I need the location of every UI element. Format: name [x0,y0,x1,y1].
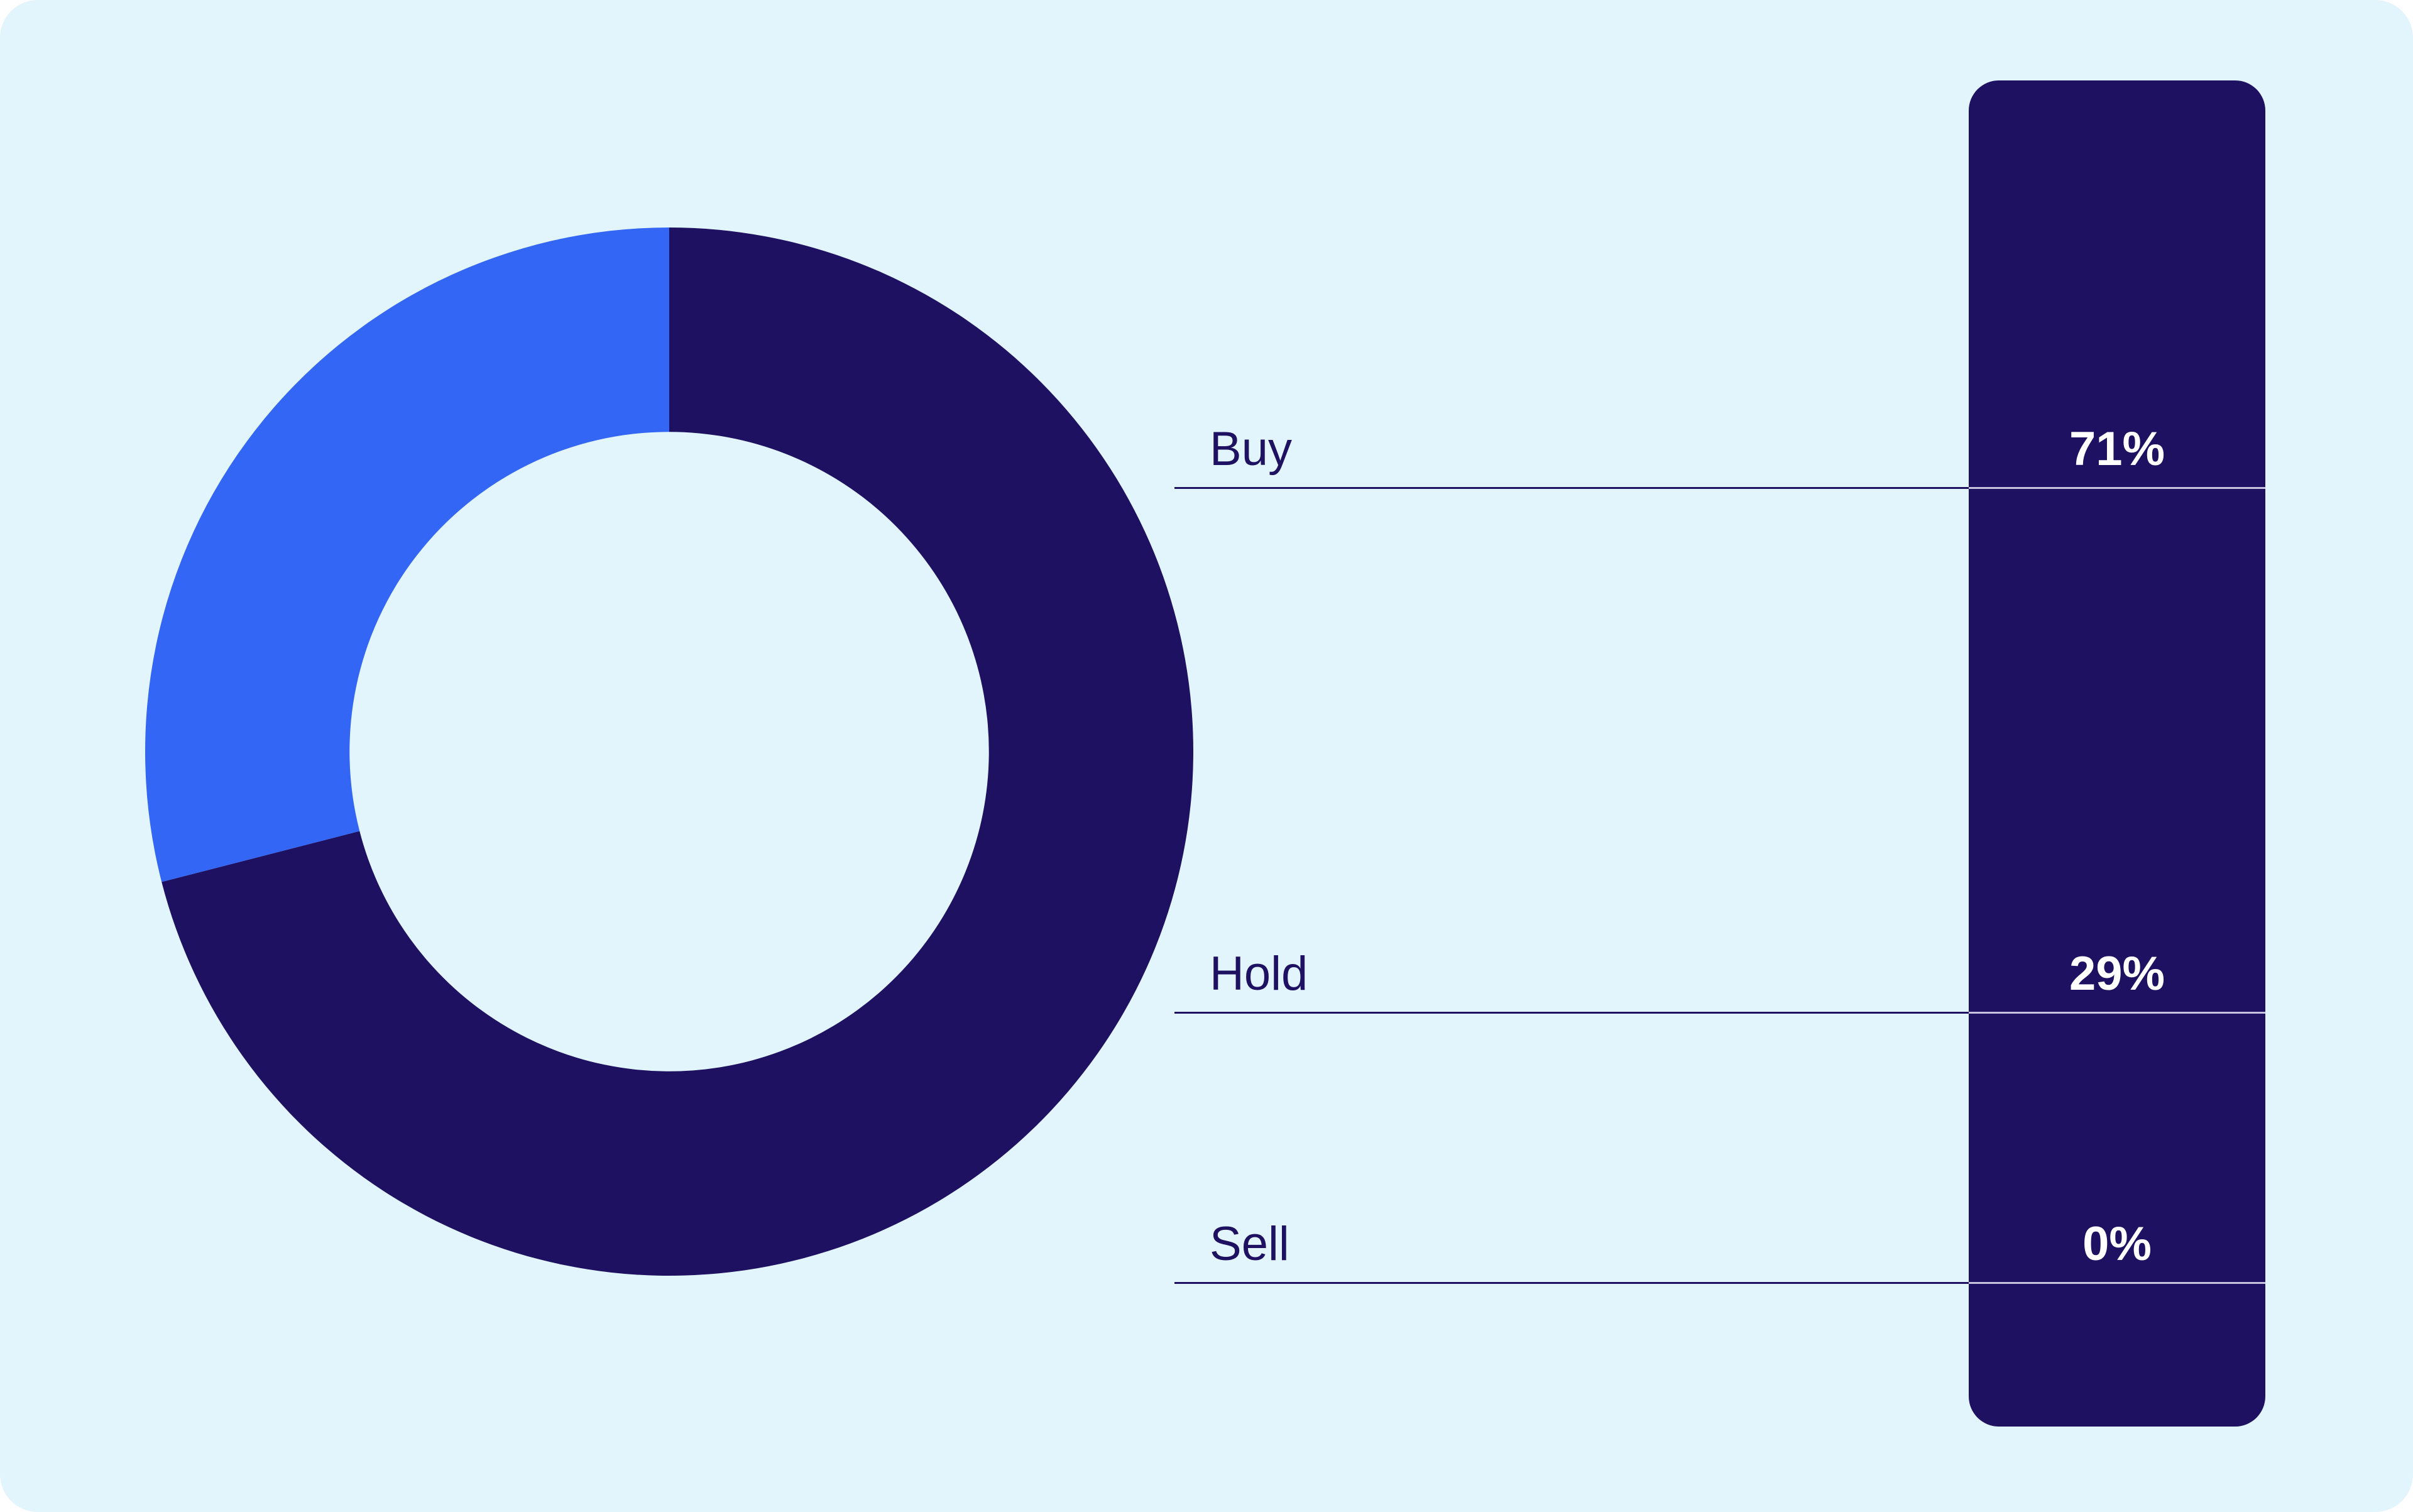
legend-label-sell: Sell [1210,1220,1289,1268]
legend-label-buy: Buy [1210,425,1292,473]
legend-table: Buy 71% Hold 29% Sell 0% [1174,80,2265,1427]
legend-value-buy: 71% [1969,425,2265,473]
legend-value-sell: 0% [1969,1220,2265,1268]
donut-chart-svg [145,227,1193,1276]
recommendation-donut-card: Buy 71% Hold 29% Sell 0% [0,0,2413,1512]
donut-slice-hold[interactable] [145,227,669,882]
legend-rule-hold-dark [1969,1012,2265,1014]
legend-value-hold: 29% [1969,950,2265,998]
legend-label-hold: Hold [1210,950,1308,998]
legend-rule-sell-dark [1969,1282,2265,1284]
legend-rule-buy-dark [1969,487,2265,489]
donut-chart [145,227,1193,1276]
